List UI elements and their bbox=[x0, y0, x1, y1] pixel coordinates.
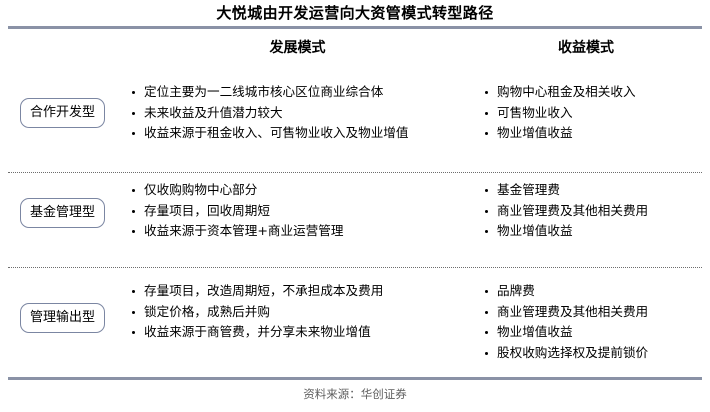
list-item: 购物中心租金及相关收入 bbox=[484, 82, 706, 103]
row-tag-cell: 基金管理型 bbox=[0, 180, 125, 285]
table-row: 基金管理型 仅收购购物中心部分 存量项目，回收周期短 收益来源于资本管理+商业运… bbox=[0, 180, 710, 267]
column-header-development: 发展模式 bbox=[125, 38, 470, 58]
list-item: 物业增值收益 bbox=[484, 123, 706, 144]
footer-divider bbox=[8, 377, 702, 380]
list-item: 收益来源于资本管理+商业运营管理 bbox=[131, 221, 471, 242]
row-tag-badge: 基金管理型 bbox=[20, 198, 105, 228]
list-item: 锁定价格，成熟后并购 bbox=[131, 302, 471, 323]
column-header-revenue: 收益模式 bbox=[470, 38, 702, 58]
list-item: 未来收益及升值潜力较大 bbox=[131, 103, 471, 124]
table-row: 管理输出型 存量项目，改造周期短，不承担成本及费用 锁定价格，成熟后并购 收益来… bbox=[0, 281, 710, 374]
list-item: 股权收购选择权及提前锁价 bbox=[484, 343, 706, 364]
list-item: 收益来源于商管费，并分享未来物业增值 bbox=[131, 322, 471, 343]
development-bullets: 存量项目，改造周期短，不承担成本及费用 锁定价格，成熟后并购 收益来源于商管费，… bbox=[131, 281, 471, 343]
list-item: 定位主要为一二线城市核心区位商业综合体 bbox=[131, 82, 471, 103]
list-item: 仅收购购物中心部分 bbox=[131, 180, 471, 201]
title-divider bbox=[8, 26, 702, 29]
column-header-row: 发展模式 收益模式 bbox=[0, 38, 710, 68]
row-divider bbox=[8, 172, 702, 173]
list-item: 可售物业收入 bbox=[484, 103, 706, 124]
row-tag-badge: 管理输出型 bbox=[20, 303, 105, 333]
title-block: 大悦城由开发运营向大资管模式转型路径 bbox=[0, 0, 710, 29]
development-bullets: 定位主要为一二线城市核心区位商业综合体 未来收益及升值潜力较大 收益来源于租金收… bbox=[131, 82, 471, 144]
list-item: 存量项目，回收周期短 bbox=[131, 201, 471, 222]
list-item: 基金管理费 bbox=[484, 180, 706, 201]
figure-container: 大悦城由开发运营向大资管模式转型路径 发展模式 收益模式 合作开发型 定位主要为… bbox=[0, 0, 710, 412]
revenue-bullets: 购物中心租金及相关收入 可售物业收入 物业增值收益 bbox=[484, 82, 706, 144]
list-item: 物业增值收益 bbox=[484, 322, 706, 343]
row-divider bbox=[8, 267, 702, 268]
list-item: 商业管理费及其他相关费用 bbox=[484, 302, 706, 323]
list-item: 商业管理费及其他相关费用 bbox=[484, 201, 706, 222]
list-item: 存量项目，改造周期短，不承担成本及费用 bbox=[131, 281, 471, 302]
revenue-bullets: 基金管理费 商业管理费及其他相关费用 物业增值收益 bbox=[484, 180, 706, 242]
list-item: 品牌费 bbox=[484, 281, 706, 302]
page-title: 大悦城由开发运营向大资管模式转型路径 bbox=[0, 4, 710, 23]
revenue-bullets: 品牌费 商业管理费及其他相关费用 物业增值收益 股权收购选择权及提前锁价 bbox=[484, 281, 706, 363]
source-note: 资料来源：华创证券 bbox=[0, 386, 710, 402]
row-tag-badge: 合作开发型 bbox=[20, 98, 105, 128]
list-item: 收益来源于租金收入、可售物业收入及物业增值 bbox=[131, 123, 471, 144]
table-row: 合作开发型 定位主要为一二线城市核心区位商业综合体 未来收益及升值潜力较大 收益… bbox=[0, 82, 710, 172]
development-bullets: 仅收购购物中心部分 存量项目，回收周期短 收益来源于资本管理+商业运营管理 bbox=[131, 180, 471, 242]
list-item: 物业增值收益 bbox=[484, 221, 706, 242]
